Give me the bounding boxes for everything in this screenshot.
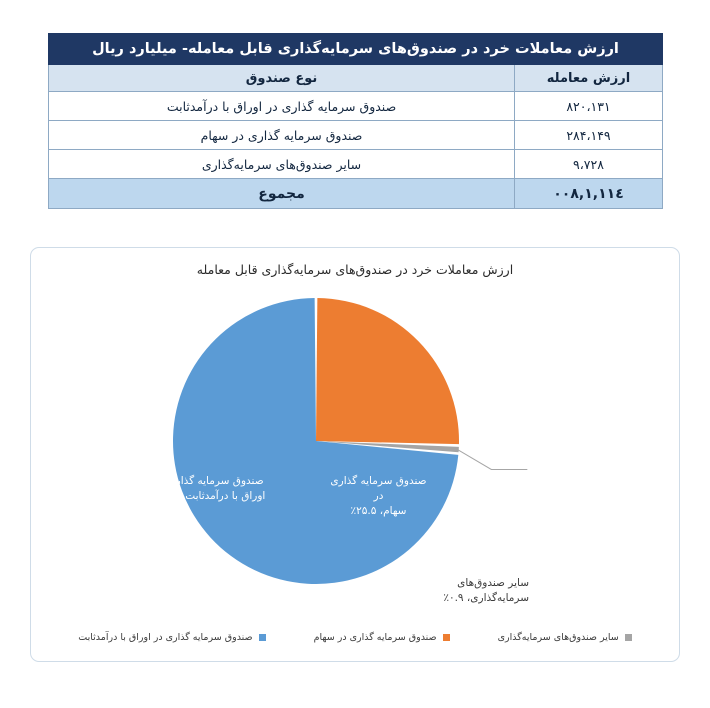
pie-slices — [173, 298, 459, 584]
legend-item-equity[interactable]: صندوق سرمایه گذاری در سهام — [314, 632, 450, 643]
row-value-fixed-income: ۸۲۰،۱۳۱ — [515, 92, 663, 121]
legend-swatch-equity-icon — [443, 634, 450, 641]
total-label: مجموع — [49, 179, 515, 209]
table-row: ۸۲۰،۱۳۱ صندوق سرمایه گذاری در اوراق با د… — [49, 92, 663, 121]
row-value-other: ۹،۷۲۸ — [515, 150, 663, 179]
legend-item-fixed-income[interactable]: صندوق سرمایه گذاری در اوراق با درآمدثابت — [78, 632, 265, 643]
table-row: ۲۸۴،۱۴۹ صندوق سرمایه گذاری در سهام — [49, 121, 663, 150]
other-slice-leader-line — [457, 449, 527, 469]
table-title-row: ارزش معاملات خرد در صندوق‌های سرمایه‌گذا… — [49, 34, 663, 65]
legend-label-fixed-income: صندوق سرمایه گذاری در اوراق با درآمدثابت — [78, 632, 252, 643]
legend-label-equity: صندوق سرمایه گذاری در سهام — [314, 632, 437, 643]
legend-label-other: سایر صندوق‌های سرمایه‌گذاری — [498, 632, 619, 643]
table-total-row: ۱,۱۱٤,۰۰۸ مجموع — [49, 179, 663, 209]
table-row: ۹،۷۲۸ سایر صندوق‌های سرمایه‌گذاری — [49, 150, 663, 179]
legend-item-other[interactable]: سایر صندوق‌های سرمایه‌گذاری — [498, 632, 632, 643]
pie-plot-area: صندوق سرمایه گذاری در اوراق با درآمدثابت… — [31, 288, 681, 608]
fund-trading-table: ارزش معاملات خرد در صندوق‌های سرمایه‌گذا… — [48, 33, 663, 209]
total-value: ۱,۱۱٤,۰۰۸ — [515, 179, 663, 209]
column-header-type: نوع صندوق — [49, 65, 515, 92]
pie-slice-1[interactable] — [316, 298, 459, 444]
table-header-row: ارزش معامله نوع صندوق — [49, 65, 663, 92]
chart-legend: سایر صندوق‌های سرمایه‌گذاری صندوق سرمایه… — [31, 632, 679, 643]
table-title: ارزش معاملات خرد در صندوق‌های سرمایه‌گذا… — [49, 34, 663, 65]
legend-swatch-other-icon — [625, 634, 632, 641]
pie-svg — [31, 288, 681, 608]
row-type-other: سایر صندوق‌های سرمایه‌گذاری — [49, 150, 515, 179]
legend-swatch-fixed-income-icon — [259, 634, 266, 641]
column-header-value: ارزش معامله — [515, 65, 663, 92]
row-value-equity: ۲۸۴،۱۴۹ — [515, 121, 663, 150]
chart-title: ارزش معاملات خرد در صندوق‌های سرمایه‌گذا… — [31, 262, 679, 277]
pie-chart-card: ارزش معاملات خرد در صندوق‌های سرمایه‌گذا… — [30, 247, 680, 662]
row-type-fixed-income: صندوق سرمایه گذاری در اوراق با درآمدثابت — [49, 92, 515, 121]
row-type-equity: صندوق سرمایه گذاری در سهام — [49, 121, 515, 150]
